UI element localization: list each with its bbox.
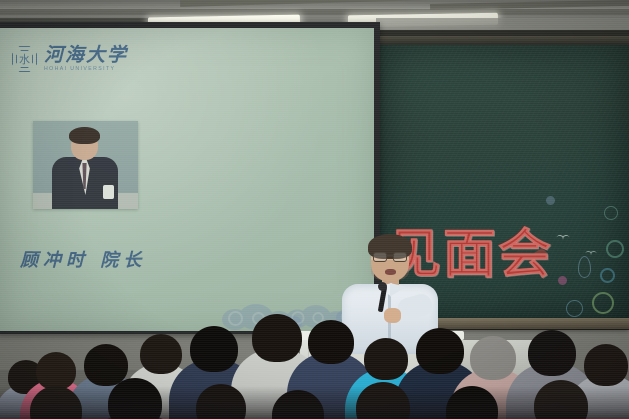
- flower-decoration: [558, 276, 567, 285]
- lecture-hall-photo: 见面会 水 河海大学 HOHAI UNIVERSITY 顾冲时 院长: [0, 0, 629, 419]
- audience-member-head: [364, 338, 408, 380]
- swirl-decoration-5: [604, 206, 618, 220]
- vine-decoration: [578, 256, 591, 278]
- photo-hair: [69, 127, 100, 144]
- dot-decoration: [546, 196, 555, 205]
- audience-member-head: [140, 334, 182, 374]
- logo-chinese-name: 河海大学: [44, 46, 128, 65]
- swirl-decoration: [606, 240, 624, 258]
- university-logo: 水 河海大学 HOHAI UNIVERSITY: [12, 41, 182, 77]
- audience-member-head: [84, 344, 128, 386]
- eyeglasses-icon: [373, 252, 407, 260]
- audience-member-head: [584, 344, 628, 386]
- emblem-glyph: 水: [12, 51, 37, 67]
- microphone-head-icon: [378, 282, 387, 291]
- speaker-mouth: [385, 269, 396, 275]
- hohai-emblem-icon: 水: [12, 46, 37, 72]
- blackboard-top-rail: [374, 36, 629, 45]
- swirl-decoration-2: [600, 268, 615, 283]
- foreground-shadow: [0, 386, 629, 419]
- ceiling-beam-shadow: [0, 9, 629, 15]
- logo-english-name: HOHAI UNIVERSITY: [44, 67, 128, 72]
- audience-member-head: [308, 320, 354, 364]
- audience-member-head: [190, 326, 238, 372]
- audience-member-head: [416, 328, 464, 374]
- audience-member-head: [36, 352, 76, 390]
- portrait-photo: [33, 121, 138, 209]
- audience-member-head: [528, 330, 576, 376]
- audience-member-head: [252, 314, 302, 362]
- slide-caption: 顾冲时 院长: [20, 246, 220, 274]
- audience-member-head: [470, 336, 516, 380]
- photo-cup: [103, 185, 114, 199]
